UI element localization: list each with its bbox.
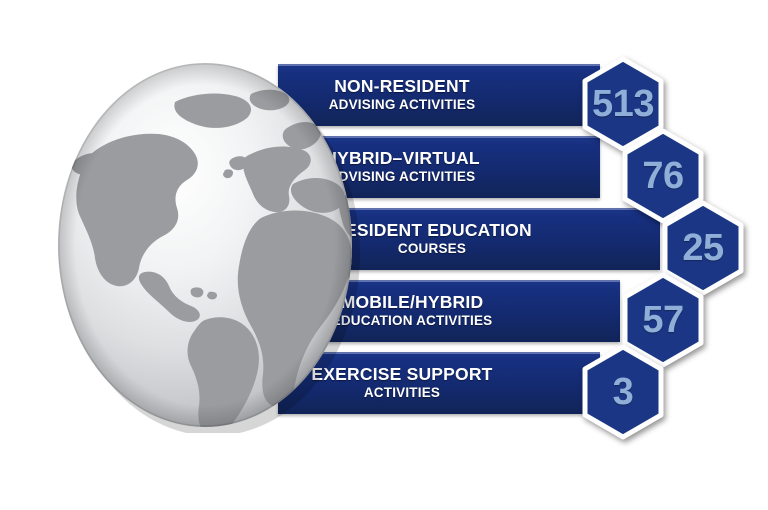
stat-bar-exercise-support[interactable]: EXERCISE SUPPORT ACTIVITIES — [278, 352, 600, 414]
stat-bar-mobile-hybrid[interactable]: MOBILE/HYBRID EDUCATION ACTIVITIES — [278, 280, 620, 342]
stat-bar-non-resident[interactable]: NON-RESIDENT ADVISING ACTIVITIES — [278, 64, 600, 126]
stat-bar-hybrid-virtual[interactable]: HYBRID–VIRTUAL ADVISING ACTIVITIES — [278, 136, 600, 198]
stat-bar-title: NON-RESIDENT — [334, 77, 470, 95]
stat-bar-subtitle: EDUCATION ACTIVITIES — [332, 313, 493, 329]
infographic-canvas: NON-RESIDENT ADVISING ACTIVITIES HYBRID–… — [0, 0, 768, 510]
stat-bar-subtitle: ACTIVITIES — [364, 385, 440, 401]
stat-bar-title: MOBILE/HYBRID — [341, 293, 484, 311]
hexagon-shape — [581, 344, 665, 440]
stat-hex-exercise-support[interactable]: 3 — [581, 344, 665, 440]
stat-bar-subtitle: ADVISING ACTIVITIES — [329, 169, 476, 185]
stat-bar-subtitle: ADVISING ACTIVITIES — [329, 97, 476, 113]
stat-bar-subtitle: COURSES — [398, 241, 466, 257]
stat-bar-title: HYBRID–VIRTUAL — [324, 149, 479, 167]
stat-bar-title: EXERCISE SUPPORT — [311, 365, 492, 383]
stat-bar-title: RESIDENT EDUCATION — [332, 221, 532, 239]
stat-bar-resident-education[interactable]: RESIDENT EDUCATION COURSES — [278, 208, 660, 270]
